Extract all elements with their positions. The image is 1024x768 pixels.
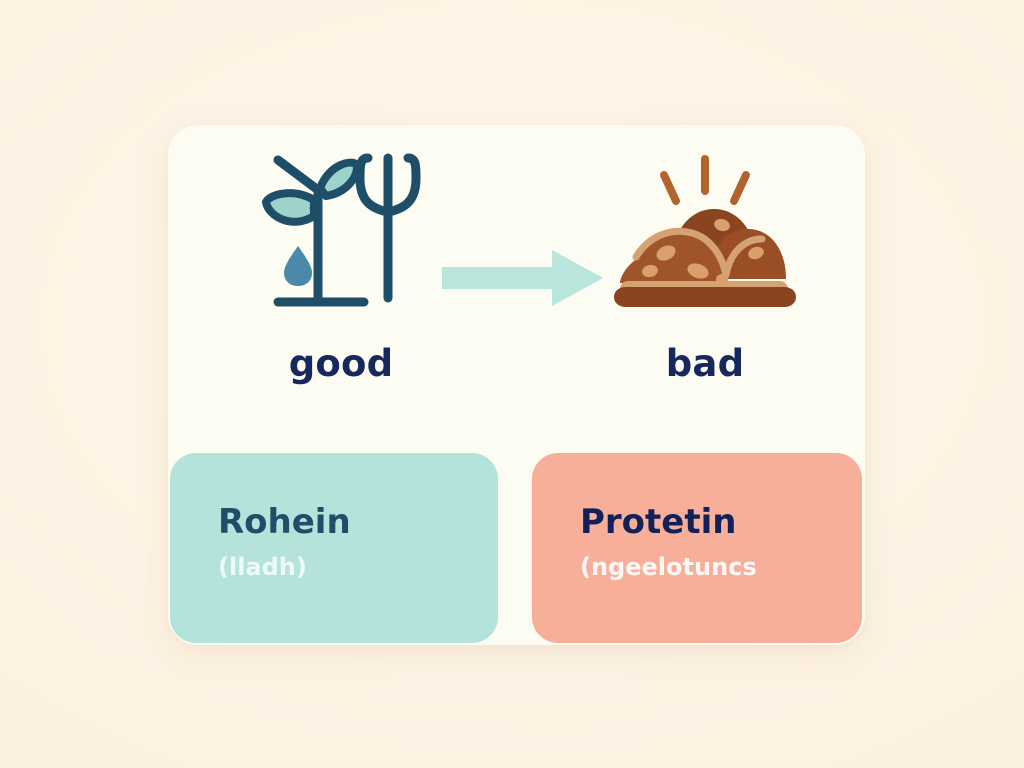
good-term-subtitle: (lladh) xyxy=(218,555,498,579)
illustration-row: good xyxy=(168,140,865,430)
good-state-column: good xyxy=(216,140,466,430)
bad-state-label: bad xyxy=(666,345,745,382)
good-term-title: Rohein xyxy=(218,505,498,539)
bad-state-column: bad xyxy=(580,140,830,430)
plant-fork-icon xyxy=(256,140,426,335)
good-state-label: good xyxy=(289,345,394,382)
bad-term-subtitle: (ngeelotuncs xyxy=(580,555,862,579)
dirt-pile-icon xyxy=(610,140,800,335)
bad-term-card[interactable]: Protetin (ngeelotuncs xyxy=(532,453,862,643)
good-term-card[interactable]: Rohein (lladh) xyxy=(170,453,498,643)
bad-term-title: Protetin xyxy=(580,505,862,539)
